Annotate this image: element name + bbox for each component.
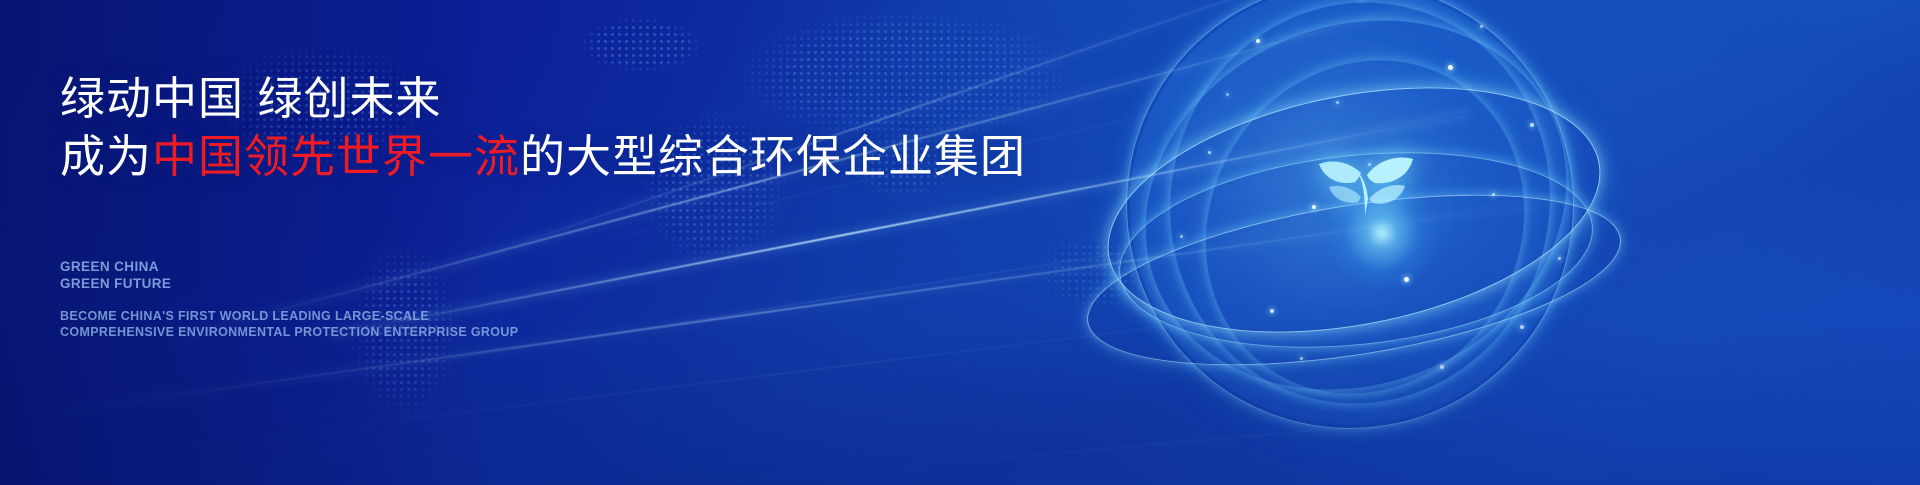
headline-line-2: 成为中国领先世界一流的大型综合环保企业集团 <box>60 128 1060 186</box>
wireframe-globe <box>1060 0 1700 485</box>
sprout-leaf-icon <box>1305 123 1425 243</box>
globe-orbit-lower <box>1076 164 1633 397</box>
globe-ring-equator <box>1126 0 1574 429</box>
world-map-south-america <box>300 225 490 465</box>
english-slogan: GREEN CHINA GREEN FUTURE <box>60 258 171 292</box>
globe-ring-tilted-c <box>1142 0 1587 455</box>
globe-hotspot-glow <box>1322 173 1442 293</box>
globe-ring-tilted-b <box>1127 0 1593 445</box>
globe-light-streak <box>67 201 1553 411</box>
english-slogan-line-1: GREEN CHINA <box>60 258 171 275</box>
globe-particles <box>1060 0 1700 485</box>
world-map-oceania <box>1010 215 1180 335</box>
headline-line-1-text: 绿动中国 绿创未来 <box>60 73 442 124</box>
promo-banner: 绿动中国 绿创未来 成为中国领先世界一流的大型综合环保企业集团 GREEN CH… <box>0 0 1920 485</box>
headline-line-2-suffix: 的大型综合环保企业集团 <box>520 131 1026 182</box>
light-streak <box>503 379 1898 485</box>
headline-line-1: 绿动中国 绿创未来 <box>60 70 1060 128</box>
english-description: BECOME CHINA'S FIRST WORLD LEADING LARGE… <box>60 308 518 340</box>
headline-line-2-prefix: 成为 <box>60 131 152 182</box>
globe-orbit-bright <box>1087 49 1622 370</box>
globe-outer-glow <box>1070 0 1630 485</box>
english-description-line-2: COMPREHENSIVE ENVIRONMENTAL PROTECTION E… <box>60 324 518 340</box>
light-streak <box>129 191 1512 411</box>
globe-sphere <box>1130 0 1570 425</box>
globe-ring-tilted-a <box>1088 0 1623 453</box>
english-slogan-line-2: GREEN FUTURE <box>60 275 171 292</box>
globe-orbit-mid <box>1109 131 1602 370</box>
headline-block: 绿动中国 绿创未来 成为中国领先世界一流的大型综合环保企业集团 <box>60 70 1060 186</box>
headline-line-2-highlight: 中国领先世界一流 <box>152 131 520 182</box>
english-description-line-1: BECOME CHINA'S FIRST WORLD LEADING LARGE… <box>60 308 518 324</box>
